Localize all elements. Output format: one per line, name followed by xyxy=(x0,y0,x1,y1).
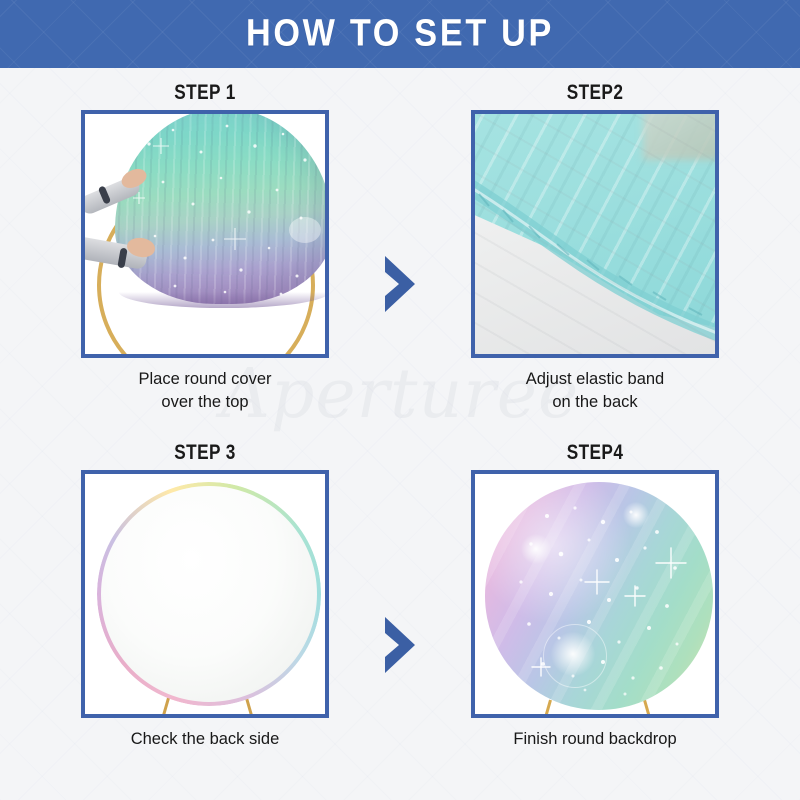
step-4-photo-frame xyxy=(471,470,719,718)
steps-grid: STEP 1 xyxy=(0,68,800,800)
stand-leg-icon xyxy=(542,700,552,714)
step-2-photo xyxy=(475,114,715,354)
gradient-cover-fabric xyxy=(115,114,325,304)
step-1-caption-line-2: over the top xyxy=(40,391,370,414)
step-2-caption-line-2: on the back xyxy=(430,391,760,414)
stand-leg-icon xyxy=(643,700,653,714)
step-1-photo-frame xyxy=(81,110,329,358)
step-1-caption-line-1: Place round cover xyxy=(40,368,370,391)
step-cell-1: STEP 1 xyxy=(40,80,370,430)
step-cell-2: STEP2 xyxy=(430,80,760,430)
step-2-photo-frame xyxy=(471,110,719,358)
step-3-caption: Check the back side xyxy=(40,728,370,751)
white-back-disc xyxy=(101,486,317,702)
stand-leg-icon xyxy=(157,698,170,714)
step-3-label: STEP 3 xyxy=(70,440,341,466)
step-2-label: STEP2 xyxy=(460,80,731,106)
step-4-label: STEP4 xyxy=(460,440,731,466)
step-1-caption: Place round cover over the top xyxy=(40,368,370,414)
page-title: HOW TO SET UP xyxy=(40,13,760,56)
arrow-step3-to-step4-icon xyxy=(379,615,421,675)
step-4-caption-line-1: Finish round backdrop xyxy=(430,728,760,751)
step-cell-4: STEP4 xyxy=(430,440,760,790)
step-3-caption-line-1: Check the back side xyxy=(40,728,370,751)
fabric-wrinkles xyxy=(475,114,715,354)
step-4-photo xyxy=(475,474,715,714)
step-2-caption-line-1: Adjust elastic band xyxy=(430,368,760,391)
stand-leg-icon xyxy=(245,698,258,714)
header-banner: HOW TO SET UP xyxy=(0,0,800,68)
step-1-label: STEP 1 xyxy=(70,80,341,106)
arrow-step1-to-step2-icon xyxy=(379,254,421,314)
step-4-caption: Finish round backdrop xyxy=(430,728,760,751)
finished-backdrop-disc xyxy=(485,482,713,710)
step-1-photo xyxy=(85,114,325,354)
step-2-caption: Adjust elastic band on the back xyxy=(430,368,760,414)
step-3-photo xyxy=(85,474,325,714)
step-cell-3: STEP 3 Check the back side xyxy=(40,440,370,790)
step-3-photo-frame xyxy=(81,470,329,718)
